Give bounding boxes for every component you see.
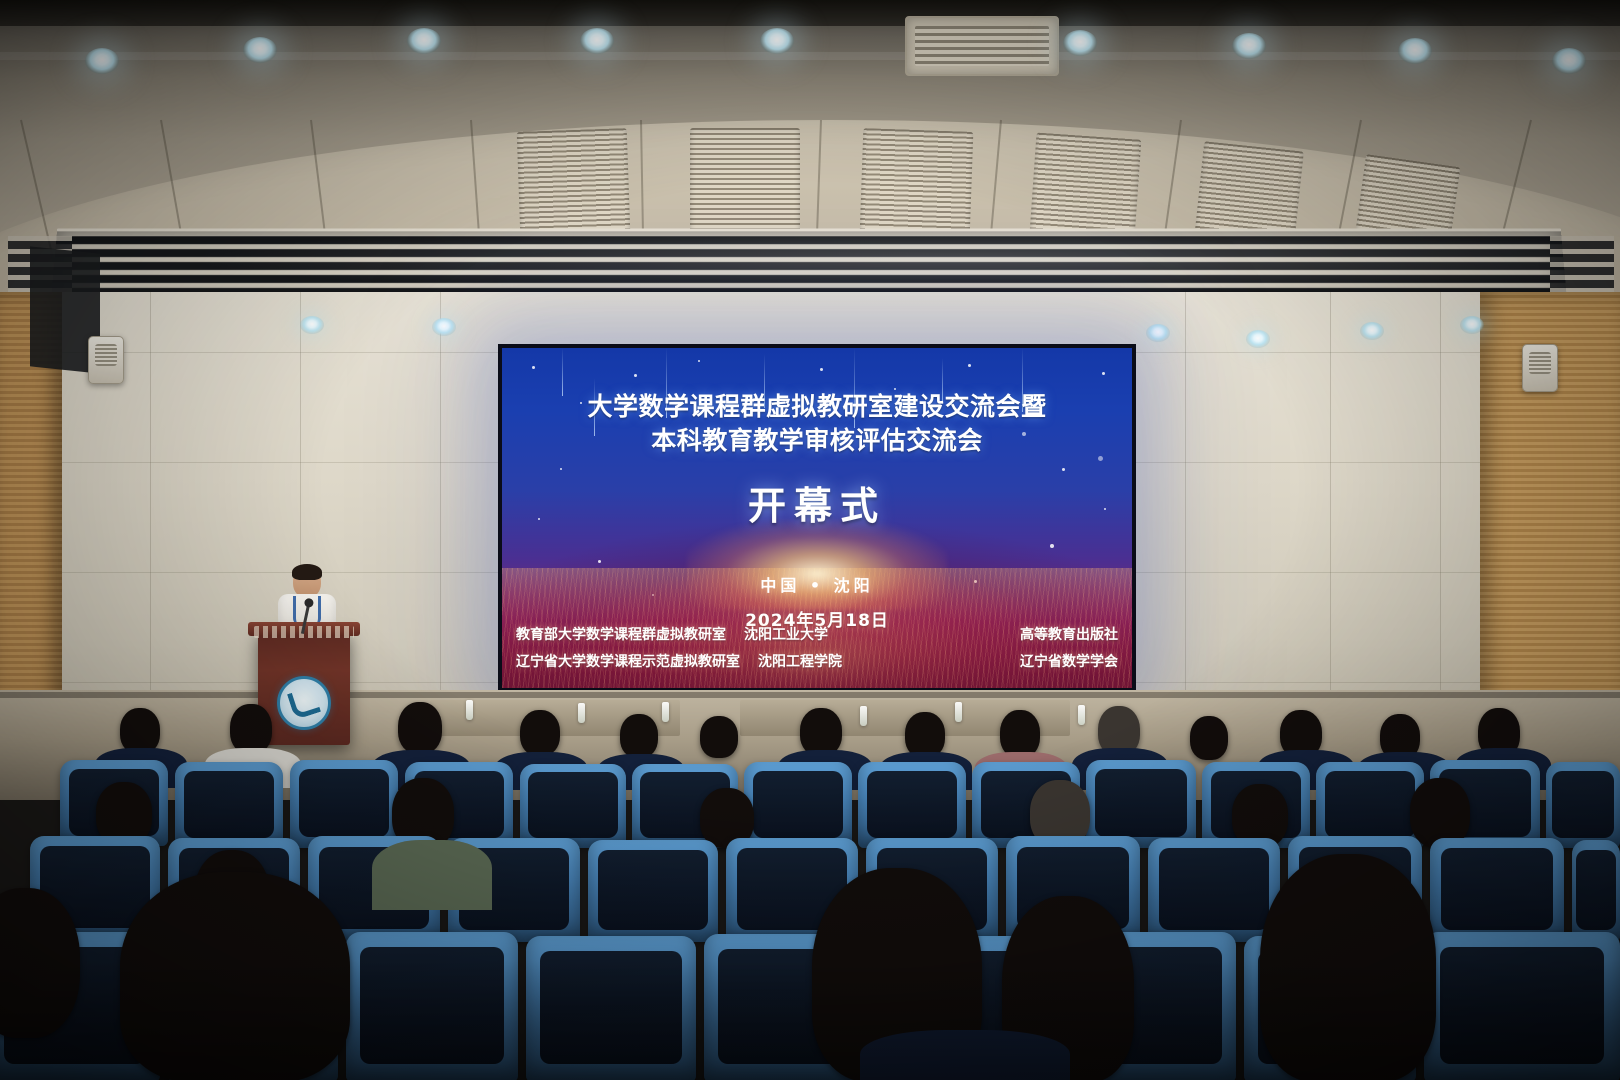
ceiling-downlight [300, 316, 324, 334]
organizer-cell: 辽宁省数学学会 [1020, 651, 1118, 671]
auditorium-seat[interactable] [1546, 762, 1620, 848]
audience-seating [0, 700, 1620, 1080]
organizer-list: 教育部大学数学课程群虚拟教研室 沈阳工业大学 高等教育出版社 辽宁省大学数学课程… [516, 624, 1118, 678]
auditorium-seat[interactable] [290, 760, 398, 848]
auditorium-seat[interactable] [175, 762, 283, 848]
audience-shoulder [860, 1030, 1070, 1080]
wall-speaker-right [1522, 344, 1558, 392]
auditorium-photo: 大学数学课程群虚拟教研室建设交流会暨 本科教育教学审核评估交流会 开幕式 中国 … [0, 0, 1620, 1080]
audience-shoulder [372, 840, 492, 910]
screen-title-line2: 本科教育教学审核评估交流会 [502, 424, 1132, 457]
sun-glow [687, 520, 947, 610]
ceiling-downlight [760, 28, 794, 54]
led-presentation-screen: 大学数学课程群虚拟教研室建设交流会暨 本科教育教学审核评估交流会 开幕式 中国 … [498, 344, 1136, 692]
audience-head [398, 702, 442, 754]
auditorium-seat[interactable] [744, 762, 852, 848]
audience-head [700, 716, 738, 758]
organizer-cell: 沈阳工程学院 [758, 651, 842, 671]
audience-head [230, 704, 272, 754]
ceiling-downlight [1232, 33, 1266, 59]
ceiling-downlight [580, 28, 614, 54]
ceiling-downlight [1460, 316, 1484, 334]
ceiling-downlight [1552, 48, 1586, 74]
auditorium-seat[interactable] [346, 932, 518, 1080]
stage-edge [0, 692, 1620, 698]
ceiling-ac-diffuser [905, 16, 1059, 76]
ceiling-downlight [432, 318, 456, 336]
audience-head [520, 710, 560, 756]
ceiling-downlight [243, 37, 277, 63]
audience-head [120, 872, 350, 1080]
wall-louvre-band-right [1550, 236, 1614, 300]
auditorium-seat[interactable] [1430, 838, 1564, 942]
auditorium-seat[interactable] [1148, 838, 1280, 942]
auditorium-seat[interactable] [1572, 840, 1620, 942]
organizer-row: 辽宁省大学数学课程示范虚拟教研室 沈阳工程学院 辽宁省数学学会 [516, 651, 1118, 671]
audience-head [1260, 854, 1436, 1080]
screen-headline: 开幕式 [502, 475, 1132, 530]
organizer-cell: 高等教育出版社 [1020, 624, 1118, 644]
ceiling-downlight [1398, 38, 1432, 64]
screen-title-line1: 大学数学课程群虚拟教研室建设交流会暨 [502, 390, 1132, 423]
wall-speaker-left [88, 336, 124, 384]
auditorium-seat[interactable] [520, 764, 626, 848]
auditorium-seat[interactable] [526, 936, 696, 1080]
audience-head [1190, 716, 1228, 760]
audience-head [620, 714, 658, 758]
ceiling-dark-strip [0, 0, 1620, 26]
organizer-cell: 辽宁省大学数学课程示范虚拟教研室 [516, 651, 740, 671]
screen-content: 大学数学课程群虚拟教研室建设交流会暨 本科教育教学审核评估交流会 开幕式 中国 … [502, 348, 1132, 688]
ceiling-downlight [1246, 330, 1270, 348]
organizer-cell: 沈阳工业大学 [744, 624, 828, 644]
auditorium-seat[interactable] [1086, 760, 1196, 848]
ceiling-downlight [1360, 322, 1384, 340]
screen-place: 中国 • 沈阳 [502, 572, 1132, 596]
auditorium-seat[interactable] [588, 840, 718, 942]
organizer-cell: 教育部大学数学课程群虚拟教研室 [516, 624, 726, 644]
ceiling-downlight [85, 48, 119, 74]
ceiling-downlight [1146, 324, 1170, 342]
auditorium-seat[interactable] [1424, 932, 1620, 1080]
audience-head [800, 708, 842, 756]
organizer-row: 教育部大学数学课程群虚拟教研室 沈阳工业大学 高等教育出版社 [516, 624, 1118, 644]
audience-head [1000, 710, 1040, 758]
ceiling-downlight [1063, 30, 1097, 56]
ceiling-downlight [407, 28, 441, 54]
auditorium-seat[interactable] [858, 762, 966, 848]
